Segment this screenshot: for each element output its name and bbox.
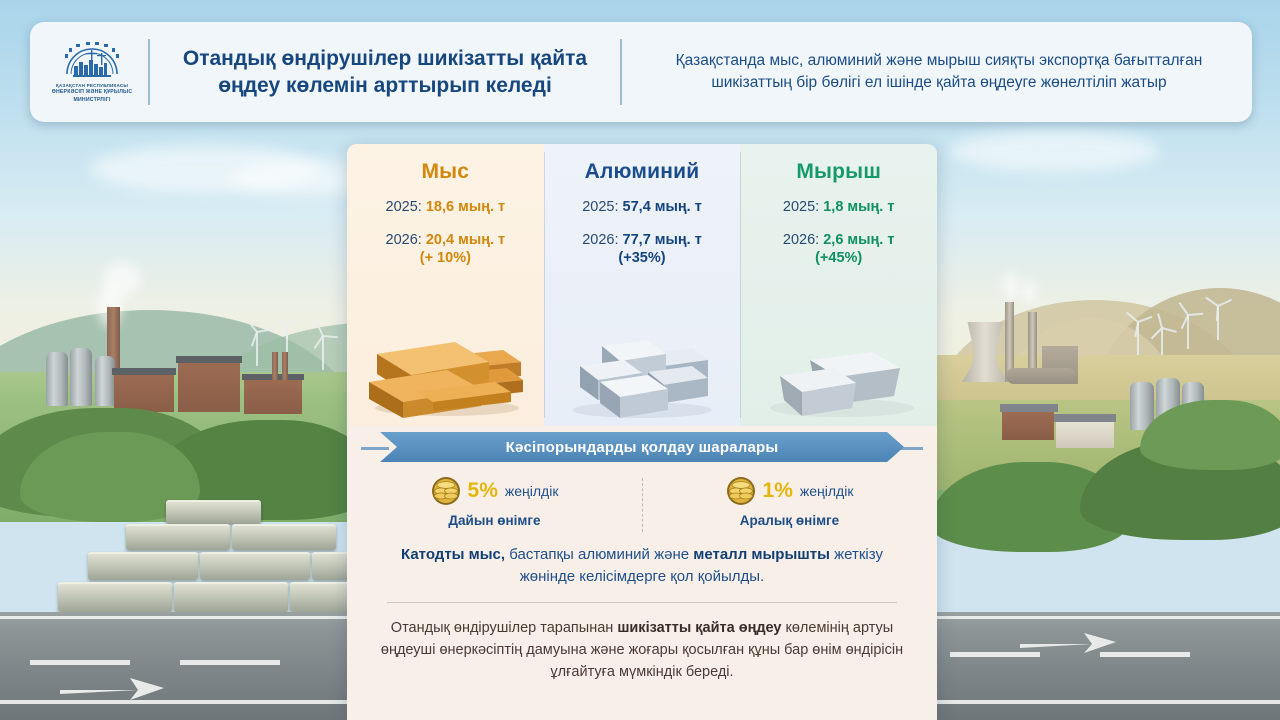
year-label: 2026: (386, 232, 422, 248)
agreement-mid: бастапқы алюминий және (505, 546, 693, 563)
farm-roof (1054, 414, 1116, 422)
growth-value: (+35%) (544, 249, 741, 268)
discount-subtitle: Аралық өнімге (642, 513, 937, 528)
discount-subtitle: Дайын өнімге (347, 513, 642, 528)
wind-turbine-icon (1178, 305, 1198, 355)
concrete-block (166, 500, 261, 524)
silo (46, 352, 68, 406)
year-label: 2025: (386, 199, 422, 215)
metal-year-row-2026: 2026: 2,6 мың. т (+45%) (740, 231, 937, 268)
road-dash (180, 660, 280, 665)
agreement-bold-1: Катодты мыс, (401, 546, 505, 563)
discount-percent: 1% (763, 479, 793, 503)
metal-card-zinc: Мырыш 2025: 1,8 мың. т 2026: 2,6 мың. т … (740, 144, 937, 426)
smoke (1022, 280, 1036, 304)
copper-ingots-icon (347, 310, 544, 422)
factory-roof (176, 356, 242, 363)
closing-bold: шикізатты қайта өңдеу (617, 620, 781, 636)
factory-chimney (282, 352, 288, 380)
year-value: 2,6 мың. т (823, 232, 894, 248)
silo (70, 348, 92, 406)
metal-card-title: Алюминий (544, 160, 741, 184)
factory-building (244, 378, 302, 414)
factory-chimney (272, 352, 278, 380)
aluminium-ingots-icon (544, 310, 741, 422)
ministry-emblem-icon (61, 40, 123, 80)
power-plant-duct (1006, 368, 1076, 384)
page-subtitle: Қазақстанда мыс, алюминий және мырыш сия… (622, 50, 1252, 94)
gold-coins-icon (726, 476, 756, 506)
silo (95, 356, 115, 406)
metal-year-row-2026: 2026: 77,7 мың. т (+35%) (544, 231, 741, 268)
year-value: 18,6 мың. т (426, 199, 505, 215)
header-bar: ҚАЗАҚСТАН РЕСПУБЛИКАСЫ ӨНЕРКӘСІП ЖӘНЕ ҚҰ… (30, 22, 1252, 122)
wind-turbine-icon (1128, 312, 1148, 360)
logo-line-1: ҚАЗАҚСТАН РЕСПУБЛИКАСЫ (52, 83, 133, 90)
support-item-intermediate-product: 1% жеңілдік Аралық өнімге (642, 476, 937, 528)
infographic-root: ҚАЗАҚСТАН РЕСПУБЛИКАСЫ ӨНЕРКӘСІП ЖӘНЕ ҚҰ… (0, 0, 1280, 720)
smoke (1003, 272, 1019, 300)
discount-percent: 5% (468, 479, 498, 503)
logo-line-3: МИНИСТРЛІГІ (52, 97, 133, 105)
agreement-text: Катодты мыс, бастапқы алюминий және мета… (385, 544, 899, 588)
closing-text: Отандық өндірушілер тарапынан шикізатты … (375, 617, 909, 684)
concrete-block (174, 582, 288, 612)
metal-cards: Мыс 2025: 18,6 мың. т 2026: 20,4 мың. т … (347, 144, 937, 426)
support-measures: 5% жеңілдік Дайын өнімге 1% (347, 476, 937, 528)
concrete-block (126, 524, 230, 550)
factory-building (178, 360, 240, 412)
metal-year-row-2026: 2026: 20,4 мың. т (+ 10%) (347, 231, 544, 268)
ministry-logo-text: ҚАЗАҚСТАН РЕСПУБЛИКАСЫ ӨНЕРКӘСІП ЖӘНЕ ҚҰ… (52, 83, 133, 105)
metal-year-row-2025: 2025: 57,4 мың. т (544, 198, 741, 217)
concrete-block (58, 582, 172, 612)
support-item-head: 1% жеңілдік (642, 476, 937, 506)
gold-coins-icon (431, 476, 461, 506)
metal-card-title: Мырыш (740, 160, 937, 184)
support-item-head: 5% жеңілдік (347, 476, 642, 506)
support-banner-label: Кәсіпорындарды қолдау шаралары (380, 432, 904, 462)
metal-year-row-2025: 2025: 18,6 мың. т (347, 198, 544, 217)
concrete-block (200, 552, 310, 580)
factory-roof (112, 368, 176, 375)
growth-value: (+45%) (740, 249, 937, 268)
year-value: 77,7 мың. т (623, 232, 702, 248)
panel-divider (387, 602, 897, 603)
wind-turbine-icon (247, 322, 267, 370)
cloud (950, 130, 1160, 172)
zinc-ingots-icon (740, 310, 937, 422)
farm-building (1002, 410, 1054, 440)
farm-building (1056, 420, 1114, 448)
year-value: 57,4 мың. т (623, 199, 702, 215)
ministry-logo: ҚАЗАҚСТАН РЕСПУБЛИКАСЫ ӨНЕРКӘСІП ЖӘНЕ ҚҰ… (30, 40, 148, 105)
metal-card-aluminium: Алюминий 2025: 57,4 мың. т 2026: 77,7 мы… (544, 144, 741, 426)
closing-part-1: Отандық өндірушілер тарапынан (391, 620, 618, 636)
discount-label: жеңілдік (800, 483, 854, 499)
road-dash (30, 660, 130, 665)
support-item-finished-product: 5% жеңілдік Дайын өнімге (347, 476, 642, 528)
wind-turbine-icon (1208, 296, 1228, 348)
metal-card-copper: Мыс 2025: 18,6 мың. т 2026: 20,4 мың. т … (347, 144, 544, 426)
road-arrow-marking (1020, 624, 1130, 654)
support-banner-wrap: Кәсіпорындарды қолдау шаралары (347, 430, 937, 464)
concrete-block (232, 524, 336, 550)
farm-roof (1000, 404, 1058, 412)
factory-building (114, 372, 174, 412)
agreement-bold-2: металл мырышты (693, 546, 830, 563)
road-arrow-marking (60, 668, 180, 702)
concrete-block (88, 552, 198, 580)
banner-rule-left (361, 447, 389, 450)
logo-line-2: ӨНЕРКӘСІП ЖӘНЕ ҚҰРЫЛЫС (52, 89, 133, 97)
metal-card-title: Мыс (347, 160, 544, 184)
metal-year-row-2025: 2025: 1,8 мың. т (740, 198, 937, 217)
growth-value: (+ 10%) (347, 249, 544, 268)
year-label: 2025: (783, 199, 819, 215)
year-label: 2025: (582, 199, 618, 215)
year-label: 2026: (783, 232, 819, 248)
page-title: Отандық өндірушілер шикізатты қайта өңде… (150, 45, 620, 100)
wind-turbine-icon (313, 326, 333, 372)
main-panel: Мыс 2025: 18,6 мың. т 2026: 20,4 мың. т … (347, 144, 937, 720)
year-label: 2026: (582, 232, 618, 248)
year-value: 20,4 мың. т (426, 232, 505, 248)
smoke (104, 262, 140, 296)
discount-label: жеңілдік (505, 483, 559, 499)
year-value: 1,8 мың. т (823, 199, 894, 215)
